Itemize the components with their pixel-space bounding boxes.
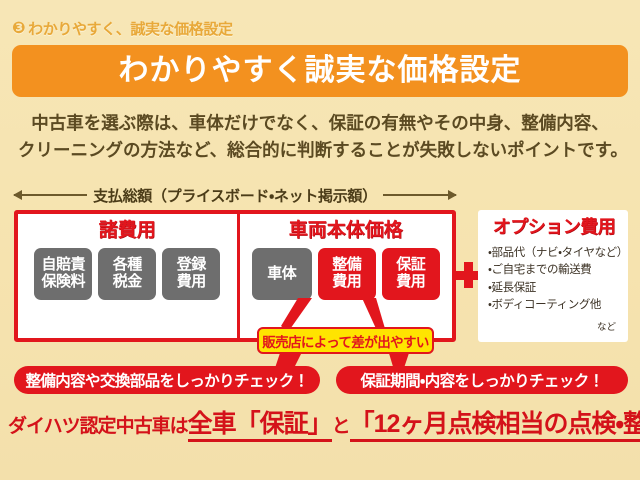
options-fee-title: オプション費用 <box>488 218 620 236</box>
list-item: ・ご自宅までの輸送費 <box>488 262 620 279</box>
check-maintenance-banner: 整備内容や交換部品をしっかりチェック！ <box>14 366 320 394</box>
panel-misc-fees-title: 諸費用 <box>18 221 237 240</box>
dealer-variance-callout-text: 販売店によって差が出やすい <box>262 331 429 351</box>
panel-vehicle-body-price: 車両本体価格 車体 整備 費用 保証 費用 <box>240 214 453 338</box>
check-maintenance-banner-text: 整備内容や交換部品をしっかりチェック！ <box>25 369 308 391</box>
total-price-label: 支払総額（プライスボード・ネット掲示額） <box>93 185 377 206</box>
headline-banner: わかりやすく誠実な価格設定 <box>12 45 628 97</box>
chip-registration-fee: 登録 費用 <box>162 248 220 300</box>
chip-vehicle-body: 車体 <box>252 248 312 300</box>
infographic-canvas: ❸ わかりやすく、誠実な価格設定 わかりやすく誠実な価格設定 中古車を選ぶ際は、… <box>0 0 640 480</box>
chip-various-taxes: 各種 税金 <box>98 248 156 300</box>
chip-line-1: 自賠責 <box>41 257 85 274</box>
eyebrow-label: わかりやすく、誠実な価格設定 <box>28 18 232 39</box>
lead-paragraph: 中古車を選ぶ際は、車体だけでなく、保証の有無やその中身、整備内容、 クリーニング… <box>18 110 622 164</box>
options-fee-box: オプション費用 ・部品代（ナビ・タイヤなど） ・ご自宅までの輸送費 ・延長保証 … <box>478 210 628 342</box>
chip-line-2: 保険料 <box>41 274 85 291</box>
check-warranty-banner-text: 保証期間・内容をしっかりチェック！ <box>360 369 603 391</box>
chip-line-2: 税金 <box>113 274 142 291</box>
chip-line-1: 各種 <box>113 257 142 274</box>
chip-line-2: 費用 <box>396 274 425 291</box>
check-warranty-banner: 保証期間・内容をしっかりチェック！ <box>336 366 628 394</box>
bottom-tagline: ダイハツ認定中古車は全車「保証」と「12ヶ月点検相当の点検・整備」付き <box>8 412 632 437</box>
list-item: ・部品代（ナビ・タイヤなど） <box>488 245 620 262</box>
panel-vehicle-body-price-chips: 車体 整備 費用 保証 費用 <box>240 248 453 300</box>
panel-misc-fees-chips: 自賠責 保険料 各種 税金 登録 費用 <box>18 248 237 300</box>
tagline-part-3: と <box>332 416 350 437</box>
total-price-box: 諸費用 自賠責 保険料 各種 税金 登録 費用 車両本体価格 <box>14 210 456 342</box>
chip-line-2: 費用 <box>177 274 206 291</box>
circled-number-icon: ❸ <box>12 21 25 37</box>
tagline-part-4: 「12ヶ月点検相当の点検・整備」 <box>350 410 640 442</box>
chip-warranty-fee: 保証 費用 <box>382 248 440 300</box>
arrow-left-icon <box>14 194 87 196</box>
tagline-part-2: 全車「保証」 <box>188 410 332 442</box>
lead-line-1: 中古車を選ぶ際は、車体だけでなく、保証の有無やその中身、整備内容、 <box>18 110 622 137</box>
chip-line-1: 車体 <box>267 266 296 283</box>
chip-maintenance-fee: 整備 費用 <box>318 248 376 300</box>
options-fee-footnote: など <box>488 319 620 333</box>
dealer-variance-callout: 販売店によって差が出やすい <box>257 327 434 354</box>
tagline-part-1: ダイハツ認定中古車は <box>8 416 188 437</box>
headline-title: わかりやすく誠実な価格設定 <box>119 56 522 86</box>
panel-misc-fees: 諸費用 自賠責 保険料 各種 税金 登録 費用 <box>18 214 240 338</box>
chip-line-1: 保証 <box>396 257 425 274</box>
arrow-right-icon <box>383 194 456 196</box>
total-price-arrow-row: 支払総額（プライスボード・ネット掲示額） <box>14 184 456 206</box>
lead-line-2: クリーニングの方法など、総合的に判断することが失敗しないポイントです。 <box>18 137 622 164</box>
options-fee-list: ・部品代（ナビ・タイヤなど） ・ご自宅までの輸送費 ・延長保証 ・ボディコーティ… <box>488 245 620 314</box>
list-item: ・ボディコーティング他 <box>488 297 620 314</box>
chip-line-2: 費用 <box>332 274 361 291</box>
chip-compulsory-insurance: 自賠責 保険料 <box>34 248 92 300</box>
panel-vehicle-body-price-title: 車両本体価格 <box>240 221 453 240</box>
chip-line-1: 登録 <box>177 257 206 274</box>
chip-line-1: 整備 <box>332 257 361 274</box>
eyebrow-heading: ❸ わかりやすく、誠実な価格設定 <box>12 18 233 39</box>
list-item: ・延長保証 <box>488 280 620 297</box>
